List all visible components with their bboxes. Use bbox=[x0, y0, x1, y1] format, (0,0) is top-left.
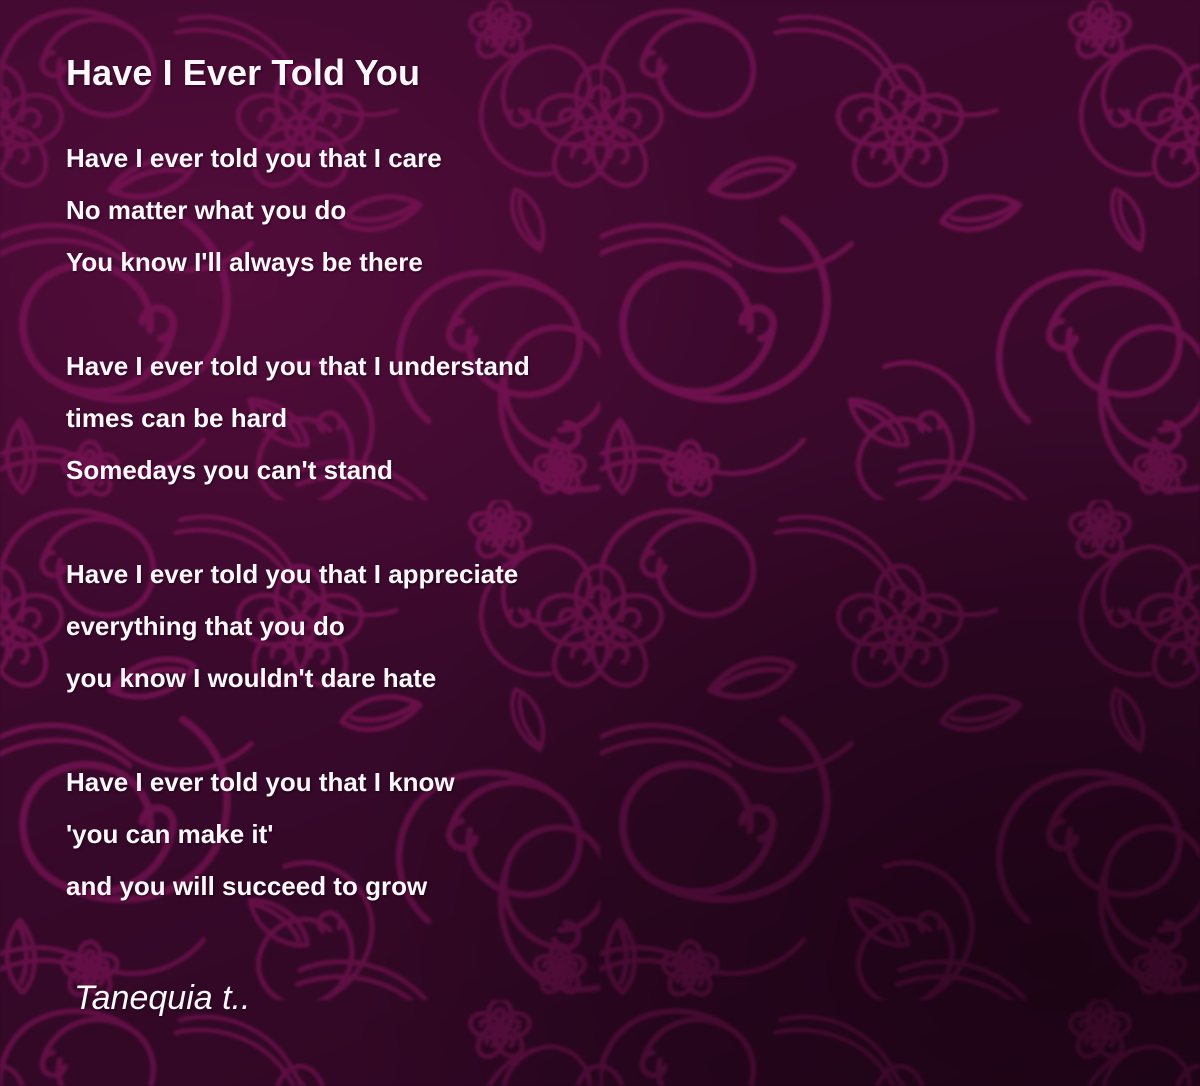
poem-stanza: Have I ever told you that I understandti… bbox=[66, 340, 1160, 496]
poem-card: Have I Ever Told You Have I ever told yo… bbox=[0, 0, 1200, 1086]
poem-line: Have I ever told you that I care bbox=[66, 132, 1160, 184]
poem-line: Have I ever told you that I appreciate bbox=[66, 548, 1160, 600]
poem-stanzas: Have I ever told you that I careNo matte… bbox=[66, 132, 1160, 912]
poem-line: No matter what you do bbox=[66, 184, 1160, 236]
poem-stanza: Have I ever told you that I appreciateev… bbox=[66, 548, 1160, 704]
poem-line: and you will succeed to grow bbox=[66, 860, 1160, 912]
poem-line: everything that you do bbox=[66, 600, 1160, 652]
poem-line: You know I'll always be there bbox=[66, 236, 1160, 288]
poem-signature: Tanequia t.. bbox=[74, 976, 1160, 1020]
poem-line: 'you can make it' bbox=[66, 808, 1160, 860]
poem-stanza: Have I ever told you that I careNo matte… bbox=[66, 132, 1160, 288]
poem-line: Have I ever told you that I understand bbox=[66, 340, 1160, 392]
poem-line: times can be hard bbox=[66, 392, 1160, 444]
poem-line: you know I wouldn't dare hate bbox=[66, 652, 1160, 704]
poem-line: Somedays you can't stand bbox=[66, 444, 1160, 496]
poem-content: Have I Ever Told You Have I ever told yo… bbox=[0, 0, 1200, 1020]
poem-stanza: Have I ever told you that I know'you can… bbox=[66, 756, 1160, 912]
poem-line: Have I ever told you that I know bbox=[66, 756, 1160, 808]
poem-title: Have I Ever Told You bbox=[66, 50, 1160, 96]
